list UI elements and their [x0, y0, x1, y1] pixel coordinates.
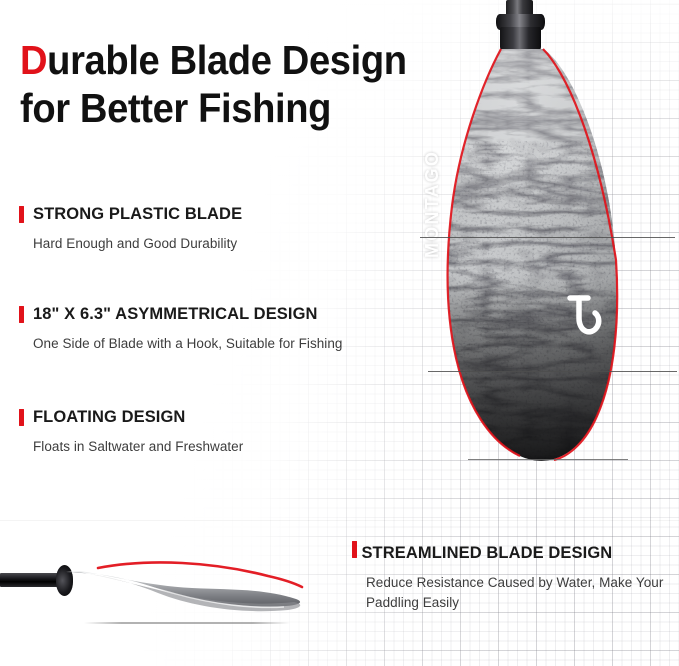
page-title-line-2: for Better Fishing [20, 84, 392, 132]
water-flow-line [98, 562, 302, 587]
feature-heading: STREAMLINED BLADE DESIGN [352, 541, 666, 563]
page-title-drop-cap: D [20, 37, 47, 83]
profile-ground-shadow [84, 622, 290, 624]
feature-floating-design: FLOATING DESIGN Floats in Saltwater and … [19, 408, 243, 457]
feature-heading: FLOATING DESIGN [19, 408, 243, 427]
feature-asymmetrical-design: 18" X 6.3" ASYMMETRICAL DESIGN One Side … [19, 305, 342, 354]
feature-subtitle: One Side of Blade with a Hook, Suitable … [33, 334, 342, 354]
page-title-line-1-rest: urable Blade Design [47, 37, 407, 83]
red-accent-bar-icon [352, 541, 357, 558]
feature-subtitle: Reduce Resistance Caused by Water, Make … [366, 573, 666, 614]
feature-title: FLOATING DESIGN [33, 408, 185, 427]
page-title: Durable Blade Design for Better Fishing [20, 36, 392, 133]
page-title-line-1: Durable Blade Design [20, 36, 392, 84]
feature-heading: STRONG PLASTIC BLADE [19, 205, 242, 224]
red-accent-bar-icon [19, 409, 24, 426]
product-infographic: Durable Blade Design for Better Fishing … [0, 0, 679, 666]
profile-blade-shape [0, 546, 330, 646]
feature-heading: 18" X 6.3" ASYMMETRICAL DESIGN [19, 305, 342, 324]
section-divider [0, 520, 679, 521]
red-accent-bar-icon [19, 306, 24, 323]
feature-streamlined-blade-design: STREAMLINED BLADE DESIGN Reduce Resistan… [352, 541, 666, 614]
feature-subtitle: Hard Enough and Good Durability [33, 234, 242, 254]
width-measure-line-bottom [428, 371, 677, 372]
feature-title: STRONG PLASTIC BLADE [33, 205, 242, 224]
product-blade-photo: MONTAGO [404, 0, 652, 470]
feature-title: 18" X 6.3" ASYMMETRICAL DESIGN [33, 305, 318, 324]
tip-measure-line [468, 459, 628, 460]
red-accent-bar-icon [19, 206, 24, 223]
feature-title: STREAMLINED BLADE DESIGN [361, 544, 612, 562]
width-measure-line-top [420, 237, 675, 238]
blade-side-profile-illustration [0, 546, 330, 646]
paddle-blade-surface [404, 46, 652, 470]
feature-strong-plastic-blade: STRONG PLASTIC BLADE Hard Enough and Goo… [19, 205, 242, 254]
brand-label: MONTAGO [422, 150, 443, 258]
feature-subtitle: Floats in Saltwater and Freshwater [33, 437, 243, 457]
